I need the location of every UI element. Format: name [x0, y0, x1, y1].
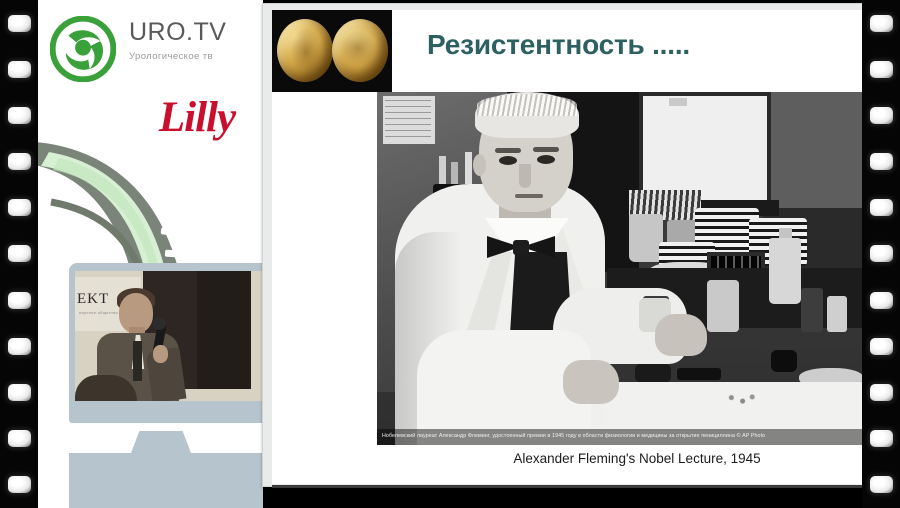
sprocket-hole — [8, 15, 31, 32]
sprocket-hole — [8, 245, 31, 262]
sprocket-hole — [870, 476, 893, 493]
sprocket-hole — [870, 292, 893, 309]
fleming-left-hand — [563, 360, 619, 404]
monitor-screen[interactable]: EKT научное общество — [75, 271, 263, 401]
fleming-eyebrow-left — [495, 148, 521, 153]
sprocket-hole — [870, 245, 893, 262]
sprocket-hole — [8, 338, 31, 355]
wall-chart-lines — [385, 100, 431, 140]
scene-backdrop-dark — [197, 271, 251, 389]
brand-title: URO.TV — [129, 20, 263, 45]
monitor-stand-neck — [131, 431, 191, 453]
lab-bottle — [707, 280, 739, 332]
slide-bottom-rule — [272, 485, 864, 488]
sprocket-hole — [8, 153, 31, 170]
fleming-ear — [473, 154, 486, 176]
sprocket-hole — [8, 199, 31, 216]
table-samples — [725, 392, 757, 406]
fleming-nose — [519, 164, 531, 188]
sprocket-hole — [870, 384, 893, 401]
microphone-head-icon — [153, 317, 166, 330]
banner-text: EKT — [77, 291, 109, 308]
uro-tv-wordmark: URO.TV Урологическое тв — [129, 20, 263, 62]
lilly-sponsor-logo: Lilly — [137, 92, 257, 144]
fleming-mouth — [515, 194, 543, 198]
fleming-right-hand — [655, 314, 707, 356]
medal-relief — [277, 19, 333, 82]
photo-caption: Нобелевский лауреат Александр Флеминг, у… — [377, 429, 864, 445]
lab-bottle — [801, 288, 823, 332]
brand-subtitle: Урологическое тв — [129, 51, 263, 62]
lab-jar — [629, 214, 663, 262]
nobel-medals-icon — [272, 10, 392, 92]
fleming-eye-right — [537, 155, 555, 164]
presentation-slide: Резистентность ..... — [272, 10, 864, 484]
lab-bottle — [827, 296, 847, 332]
table-specimen — [677, 368, 721, 380]
sprocket-hole — [870, 15, 893, 32]
branding-panel: URO.TV Урологическое тв Lilly — [33, 0, 263, 508]
window-label — [669, 98, 687, 106]
sprocket-hole — [870, 153, 893, 170]
film-strip-right — [862, 0, 900, 508]
sprocket-hole — [8, 292, 31, 309]
film-strip-left — [0, 0, 38, 508]
sprocket-hole — [8, 107, 31, 124]
presentation-slide-panel: Резистентность ..... — [262, 3, 870, 487]
sprocket-hole — [870, 199, 893, 216]
slide-bottom-caption: Alexander Fleming's Nobel Lecture, 1945 — [272, 451, 864, 466]
sprocket-hole — [8, 430, 31, 447]
fleming-photo: Нобелевский лауреат Александр Флеминг, у… — [377, 92, 864, 445]
sprocket-hole — [870, 61, 893, 78]
brand-header: URO.TV Урологическое тв — [41, 14, 263, 86]
speaker-tie — [133, 341, 142, 381]
speaker-video-monitor[interactable]: EKT научное общество — [69, 263, 263, 508]
sprocket-hole — [8, 384, 31, 401]
fleming-eye-left — [499, 156, 517, 165]
sprocket-hole — [870, 107, 893, 124]
bow-tie-knot — [513, 240, 529, 255]
nobel-medal-reverse — [332, 19, 388, 82]
monitor-stand-base — [69, 453, 263, 508]
sprocket-hole — [870, 338, 893, 355]
ink-pot — [771, 350, 797, 372]
slide-bottom-caption-text: Alexander Fleming's Nobel Lecture, 1945 — [513, 451, 760, 466]
fleming-eyebrow-right — [533, 147, 559, 152]
slide-title: Резистентность ..... — [427, 29, 690, 61]
uro-tv-aperture-logo-icon — [50, 16, 116, 82]
sprocket-hole — [8, 61, 31, 78]
video-frame: URO.TV Урологическое тв Lilly — [0, 0, 900, 508]
speaker-hand — [153, 345, 168, 363]
sprocket-hole — [870, 430, 893, 447]
medal-relief — [332, 19, 388, 82]
lab-bottle — [769, 238, 801, 304]
nobel-medal-obverse — [277, 19, 333, 82]
sprocket-hole — [8, 476, 31, 493]
banner-subtext: научное общество — [79, 310, 118, 315]
lab-wall-right — [763, 92, 864, 212]
fleming-hair-highlight — [477, 94, 577, 116]
table-specimen — [635, 364, 671, 382]
